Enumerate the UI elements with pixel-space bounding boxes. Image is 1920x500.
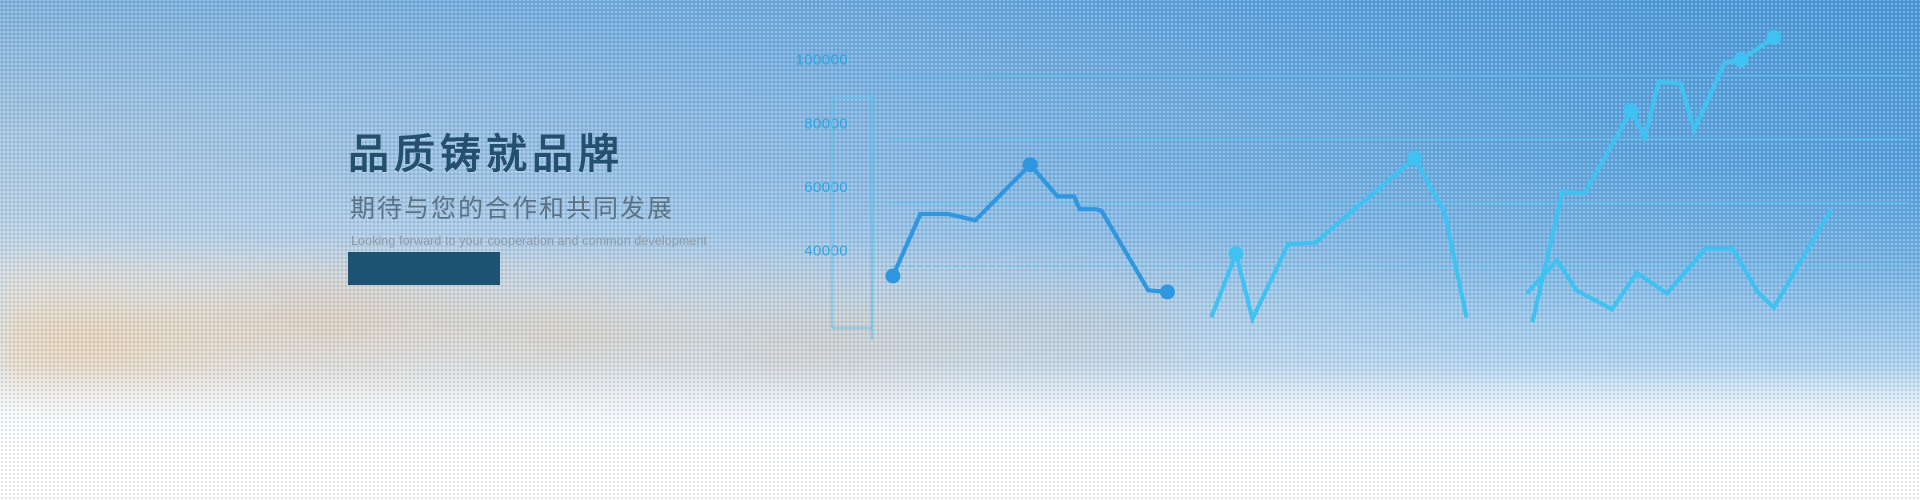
chart-data-point-marker <box>1229 246 1244 261</box>
chart-data-point-marker <box>1624 103 1639 118</box>
statistics-line-chart: 100000800006000040000 <box>760 0 1920 500</box>
chart-data-point-marker <box>1023 157 1038 172</box>
chart-y-axis-label: 100000 <box>796 52 848 69</box>
chart-y-axis-label: 40000 <box>804 242 848 259</box>
chart-series-line <box>1527 209 1832 309</box>
banner-headline: 品质铸就品牌 <box>348 130 768 178</box>
chart-y-axis-label: 60000 <box>804 179 848 196</box>
chart-axis-bracket <box>832 98 872 328</box>
chart-data-point-marker <box>885 269 900 284</box>
chart-series-line <box>893 165 1168 292</box>
chart-data-point-marker <box>1766 30 1781 45</box>
chart-svg: 100000800006000040000 <box>760 0 1920 500</box>
chart-y-axis-label: 80000 <box>804 115 848 132</box>
banner-copy: 品质铸就品牌 期待与您的合作和共同发展 Looking forward to y… <box>348 130 768 249</box>
hero-banner: 品质铸就品牌 期待与您的合作和共同发展 Looking forward to y… <box>0 0 1920 500</box>
banner-cta-button[interactable] <box>348 252 500 285</box>
chart-series-line <box>1211 158 1466 319</box>
banner-subheadline: 期待与您的合作和共同发展 <box>350 194 768 225</box>
banner-subheadline-en: Looking forward to your cooperation and … <box>351 233 768 249</box>
chart-data-point-marker <box>1160 284 1175 299</box>
chart-data-point-marker <box>1407 151 1422 166</box>
chart-data-point-marker <box>1734 52 1749 67</box>
